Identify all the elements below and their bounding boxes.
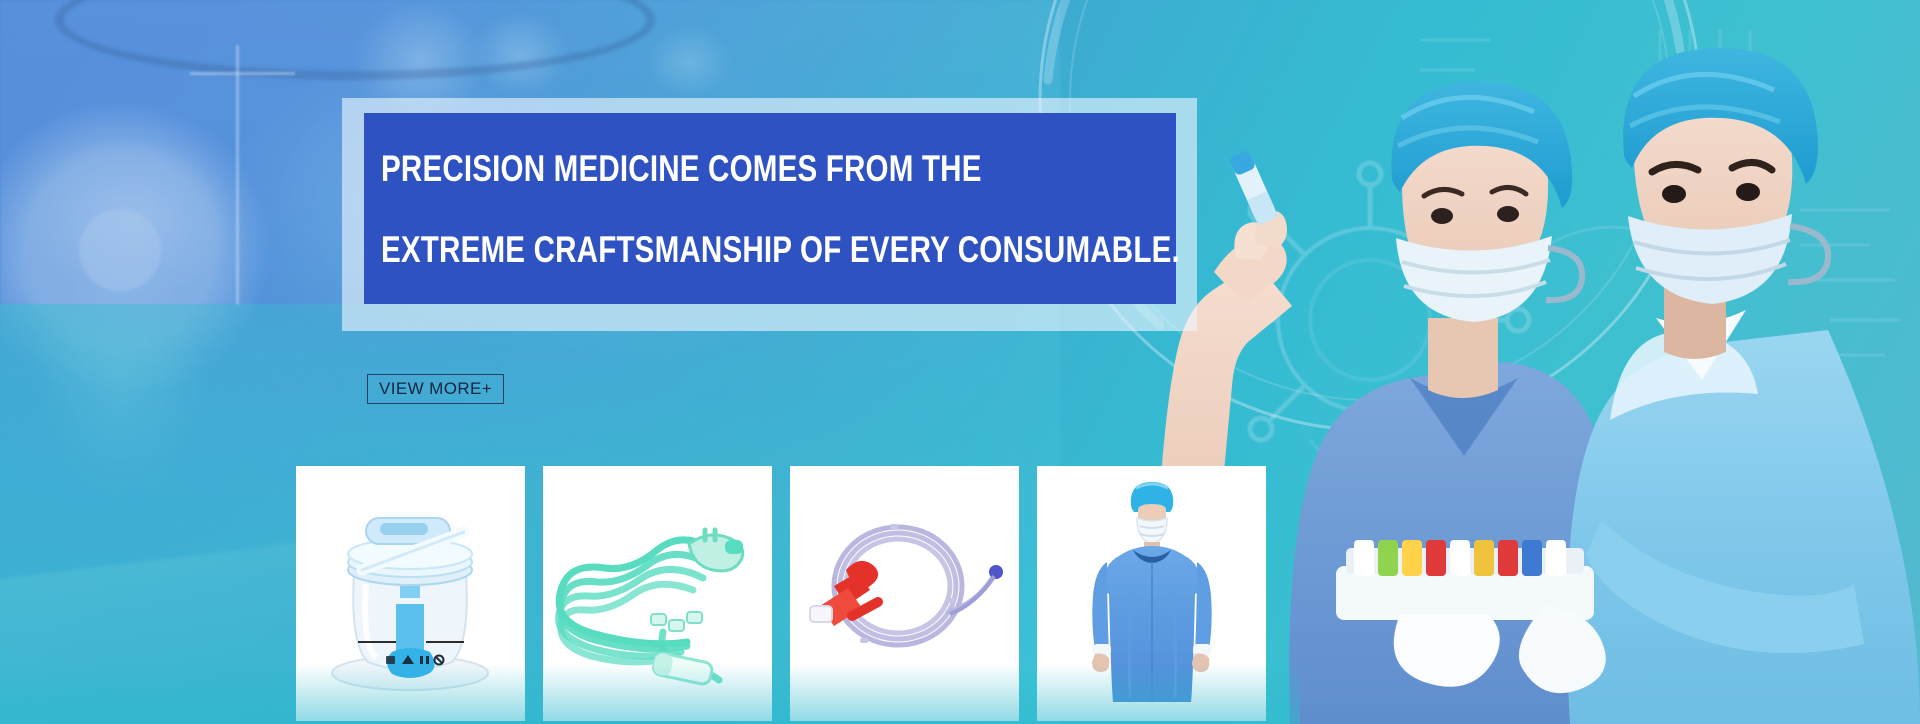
product-card-surgical-gown[interactable] xyxy=(1037,466,1266,721)
product-card-suction-catheter[interactable] xyxy=(790,466,1019,721)
product-card-list xyxy=(296,466,1266,721)
headline-box: PRECISION MEDICINE COMES FROM THE EXTREM… xyxy=(364,113,1176,304)
product-card-disposable-suction-canister[interactable] xyxy=(296,466,525,721)
hero-banner: PRECISION MEDICINE COMES FROM THE EXTREM… xyxy=(0,0,1920,724)
product-card-nasal-oxygen-cannula[interactable] xyxy=(543,466,772,721)
male-doctor xyxy=(1567,48,1920,724)
background-iv-pole-bar xyxy=(190,72,295,75)
background-iv-pole xyxy=(236,45,239,305)
view-more-button[interactable]: VIEW MORE+ xyxy=(367,374,504,404)
headline-line-2: EXTREME CRAFTSMANSHIP OF EVERY CONSUMABL… xyxy=(381,231,1003,268)
headline-line-1: PRECISION MEDICINE COMES FROM THE xyxy=(381,150,1003,187)
